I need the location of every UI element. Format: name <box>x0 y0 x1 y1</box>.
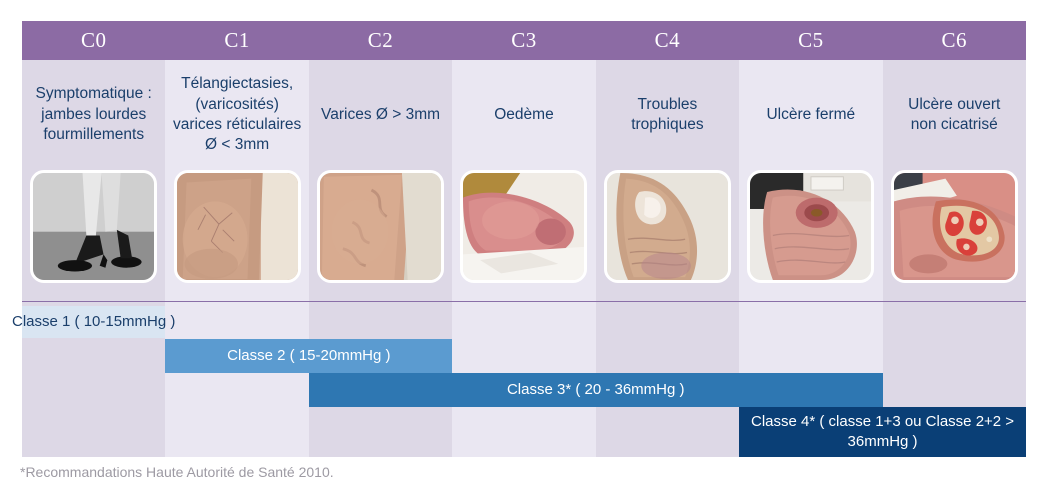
stage-header-c1: C1 <box>165 21 308 60</box>
footnote-source: *Recommandations Haute Autorité de Santé… <box>20 464 334 480</box>
compression-bar-classe-2-label: Classe 2 ( 15-20mmHg ) <box>227 346 390 366</box>
stage-header-c5: C5 <box>739 21 882 60</box>
stage-description-c0: Symptomatique :jambes lourdesfourmilleme… <box>22 60 165 170</box>
compression-bar-classe-1-label: Classe 1 ( 10-15mmHg ) <box>12 312 175 332</box>
photo-c2-varicose-veins <box>317 170 444 283</box>
stage-photo-cell-c4 <box>596 170 739 301</box>
photo-c1-telangiectasia <box>174 170 301 283</box>
compression-bar-classe-4-label: Classe 4* ( classe 1+3 ou Classe 2+2 > 3… <box>747 412 1018 453</box>
stage-header-c6: C6 <box>883 21 1026 60</box>
compression-bar-classe-3-label: Classe 3* ( 20 - 36mmHg ) <box>507 380 685 400</box>
stage-photo-cell-c5 <box>739 170 882 301</box>
stage-header-row: C0 C1 C2 C3 C4 C5 C6 <box>22 21 1026 60</box>
compression-bar-classe-2: Classe 2 ( 15-20mmHg ) <box>165 339 452 373</box>
stage-description-c5-text: Ulcère fermé <box>766 105 855 125</box>
stage-description-c4: Troublestrophiques <box>596 60 739 170</box>
photo-c0-legs-heels <box>30 170 157 283</box>
stage-description-c2-text: Varices Ø > 3mm <box>321 105 440 125</box>
stage-description-c0-text: Symptomatique :jambes lourdesfourmilleme… <box>36 84 152 145</box>
ceap-classification-chart: C0 C1 C2 C3 C4 C5 C6 Symptomatique :jamb… <box>0 0 1050 499</box>
compression-bar-classe-4: Classe 4* ( classe 1+3 ou Classe 2+2 > 3… <box>739 407 1026 457</box>
stage-header-c4: C4 <box>596 21 739 60</box>
stage-header-c3: C3 <box>452 21 595 60</box>
stage-header-c0: C0 <box>22 21 165 60</box>
stage-photo-row <box>22 170 1026 301</box>
stage-photo-cell-c2 <box>309 170 452 301</box>
stage-description-c6: Ulcère ouvertnon cicatrisé <box>883 60 1026 170</box>
stage-description-c4-text: Troublestrophiques <box>631 95 703 136</box>
stage-description-c1-text: Télangiectasies,(varicosités)varices rét… <box>173 74 301 156</box>
stage-description-c1: Télangiectasies,(varicosités)varices rét… <box>165 60 308 170</box>
photo-c3-oedema-foot <box>460 170 587 283</box>
stage-description-c3: Oedème <box>452 60 595 170</box>
stage-description-c5: Ulcère fermé <box>739 60 882 170</box>
stage-header-c2: C2 <box>309 21 452 60</box>
compression-bar-classe-3: Classe 3* ( 20 - 36mmHg ) <box>309 373 883 407</box>
stage-photo-cell-c1 <box>165 170 308 301</box>
stage-photo-cell-c0 <box>22 170 165 301</box>
stage-description-c2: Varices Ø > 3mm <box>309 60 452 170</box>
stage-description-c6-text: Ulcère ouvertnon cicatrisé <box>908 95 1000 136</box>
stage-description-c3-text: Oedème <box>494 105 553 125</box>
photo-c5-healed-ulcer <box>747 170 874 283</box>
compression-bar-classe-1: Classe 1 ( 10-15mmHg ) <box>22 306 165 338</box>
photo-c6-open-ulcer <box>891 170 1018 283</box>
stage-description-row: Symptomatique :jambes lourdesfourmilleme… <box>22 60 1026 170</box>
chart-grid: C0 C1 C2 C3 C4 C5 C6 Symptomatique :jamb… <box>22 21 1026 457</box>
compression-class-bars: Classe 1 ( 10-15mmHg ) Classe 2 ( 15-20m… <box>22 302 1026 457</box>
photo-c4-trophic-disorders <box>604 170 731 283</box>
stage-photo-cell-c6 <box>883 170 1026 301</box>
stage-photo-cell-c3 <box>452 170 595 301</box>
